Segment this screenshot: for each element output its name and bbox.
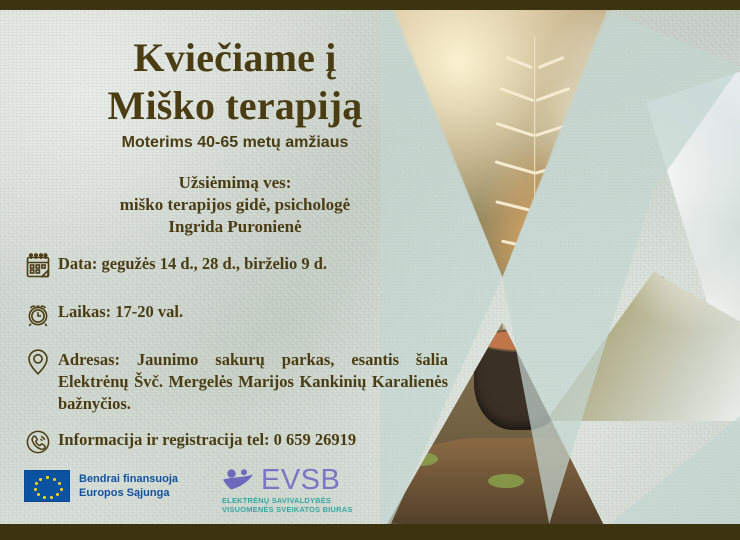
evsb-logo: EVSB ELEKTRĖNŲ SAVIVALDYBĖS VISUOMENĖS S…: [222, 466, 362, 515]
phone-ring-icon: [18, 425, 58, 459]
evsb-wordmark: EVSB: [261, 466, 340, 495]
forest-therapy-poster: Kviečiame į Miško terapiją Moterims 40-6…: [0, 0, 740, 540]
top-border-bar: [0, 0, 740, 10]
page-title: Kviečiame į Miško terapiją: [0, 38, 470, 126]
detail-text-phone: Informacija ir registracija tel: 0 659 2…: [58, 425, 356, 451]
detail-text-time: Laikas: 17-20 val.: [58, 297, 183, 323]
title-line-2: Miško terapiją: [0, 86, 470, 126]
presenter-line-1: Užsiėmimą ves:: [0, 172, 470, 194]
eu-funding-text: Bendrai finansuoja Europos Sąjunga: [79, 472, 178, 500]
evsb-subtitle: ELEKTRĖNŲ SAVIVALDYBĖS VISUOMENĖS SVEIKA…: [222, 496, 362, 515]
presenter-line-3: Ingrida Puronienė: [0, 216, 470, 238]
eu-text-line-2: Europos Sąjunga: [79, 486, 178, 500]
title-line-1: Kviečiame į: [0, 38, 470, 78]
evsb-sub-line-1: ELEKTRĖNŲ SAVIVALDYBĖS: [222, 496, 362, 505]
presenter-line-2: miško terapijos gidė, psichologė: [0, 194, 470, 216]
alarm-clock-icon: [18, 297, 58, 331]
eu-flag-icon: [24, 470, 70, 502]
detail-text-address: Adresas: Jaunimo sakurų parkas, esantis …: [58, 345, 448, 414]
detail-row-time: Laikas: 17-20 val.: [18, 297, 470, 331]
detail-row-phone: Informacija ir registracija tel: 0 659 2…: [18, 425, 470, 459]
details-list: Data: gegužės 14 d., 28 d., birželio 9 d…: [18, 249, 470, 458]
calendar-icon: [18, 249, 58, 283]
eu-text-line-1: Bendrai finansuoja: [79, 472, 178, 486]
location-pin-icon: [18, 345, 58, 379]
content-column: Kviečiame į Miško terapiją Moterims 40-6…: [0, 10, 470, 524]
footer-logos: Bendrai finansuoja Europos Sąjunga EVSB …: [0, 462, 740, 524]
detail-row-date: Data: gegužės 14 d., 28 d., birželio 9 d…: [18, 249, 470, 283]
detail-text-date: Data: gegužės 14 d., 28 d., birželio 9 d…: [58, 249, 327, 275]
bottom-border-bar: [0, 524, 740, 540]
evsb-people-icon: [222, 469, 256, 493]
presenter-block: Užsiėmimą ves: miško terapijos gidė, psi…: [0, 172, 470, 237]
detail-row-address: Adresas: Jaunimo sakurų parkas, esantis …: [18, 345, 470, 414]
title-subtitle: Moterims 40-65 metų amžiaus: [0, 134, 470, 152]
evsb-sub-line-2: VISUOMENĖS SVEIKATOS BIURAS: [222, 505, 362, 514]
eu-funding-logo: Bendrai finansuoja Europos Sąjunga: [24, 470, 178, 502]
